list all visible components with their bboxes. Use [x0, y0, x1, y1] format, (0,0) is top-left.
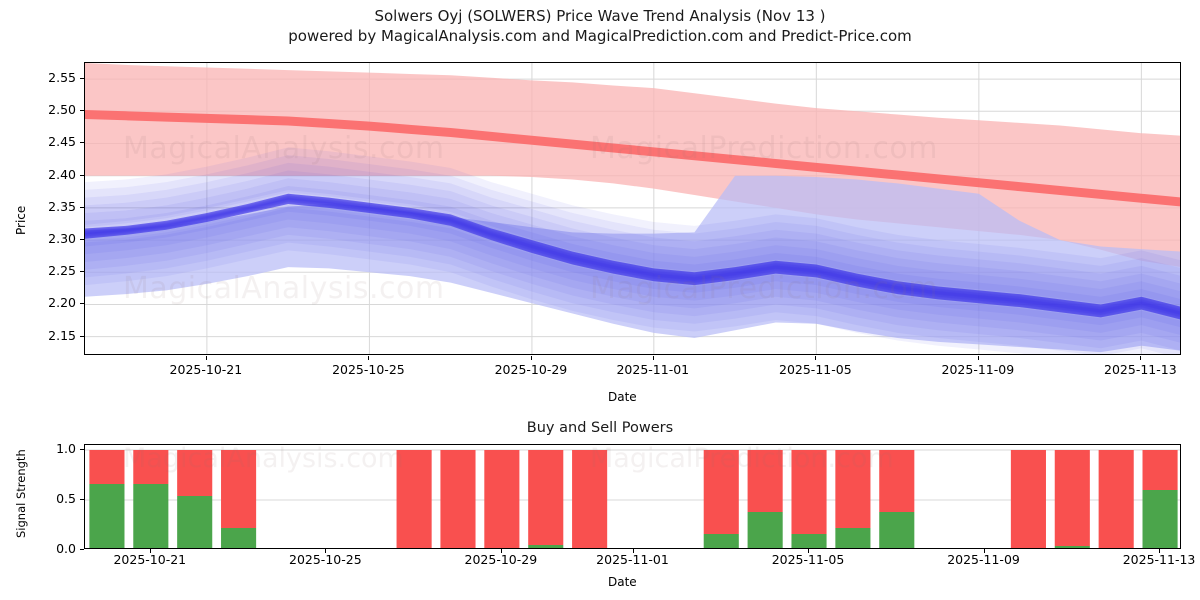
price-y-tick: 2.30 — [24, 231, 76, 246]
signal-x-tickmark — [808, 549, 809, 553]
sell-power-segment — [89, 450, 124, 484]
signal-x-tickmark — [1159, 549, 1160, 553]
price-x-tick: 2025-10-29 — [471, 362, 591, 377]
buy-sell-bars-svg — [85, 445, 1181, 549]
buy-power-segment — [1143, 490, 1178, 549]
price-x-tick: 2025-11-01 — [593, 362, 713, 377]
price-y-tick: 2.55 — [24, 70, 76, 85]
price-y-tick: 2.50 — [24, 102, 76, 117]
buy-power-segment — [177, 496, 212, 549]
buy-power-segment — [89, 484, 124, 549]
sell-power-segment — [1011, 450, 1046, 549]
buy-power-segment — [528, 545, 563, 549]
signal-bar — [835, 450, 870, 549]
sell-power-segment — [528, 450, 563, 545]
price-panel: Price Date 2.152.202.252.302.352.402.452… — [0, 0, 1200, 410]
signal-panel: Buy and Sell Powers Signal Strength Date… — [0, 410, 1200, 600]
signal-bar — [484, 450, 519, 549]
price-x-tickmark — [531, 356, 532, 360]
signal-y-tick: 0.0 — [30, 541, 76, 556]
price-y-tick: 2.40 — [24, 167, 76, 182]
price-x-tickmark — [368, 356, 369, 360]
signal-bar — [1011, 450, 1046, 549]
sell-power-segment — [791, 450, 826, 534]
signal-bar — [133, 450, 168, 549]
price-x-tickmark — [815, 356, 816, 360]
price-x-tickmark — [1140, 356, 1141, 360]
buy-power-segment — [879, 512, 914, 549]
signal-bar — [397, 450, 432, 549]
price-y-tick: 2.15 — [24, 328, 76, 343]
signal-y-tick: 1.0 — [30, 441, 76, 456]
signal-x-axis-label: Date — [608, 575, 637, 589]
signal-y-tick: 0.5 — [30, 491, 76, 506]
sell-power-segment — [397, 450, 432, 549]
price-x-tick: 2025-10-25 — [308, 362, 428, 377]
signal-x-tick: 2025-10-25 — [265, 552, 385, 567]
sell-power-segment — [221, 450, 256, 528]
signal-bar — [1055, 450, 1090, 549]
sell-power-segment — [1055, 450, 1090, 546]
signal-bar — [221, 450, 256, 549]
signal-x-tickmark — [150, 549, 151, 553]
buy-power-segment — [221, 528, 256, 549]
signal-x-tick: 2025-11-05 — [748, 552, 868, 567]
buy-power-segment — [1055, 546, 1090, 549]
signal-plot-area: MagicalAnalysis.com MagicalPrediction.co… — [84, 444, 1181, 549]
price-x-tick: 2025-11-09 — [918, 362, 1038, 377]
price-x-tick: 2025-10-21 — [146, 362, 266, 377]
price-wave-svg — [85, 63, 1181, 355]
sell-power-segment — [835, 450, 870, 528]
signal-x-tick: 2025-11-13 — [1099, 552, 1200, 567]
price-x-tick: 2025-11-05 — [755, 362, 875, 377]
price-x-tickmark — [978, 356, 979, 360]
price-y-tick: 2.25 — [24, 263, 76, 278]
buy-power-segment — [133, 484, 168, 549]
signal-x-tickmark — [633, 549, 634, 553]
sell-power-segment — [879, 450, 914, 512]
signal-panel-title: Buy and Sell Powers — [0, 420, 1200, 436]
signal-bar — [791, 450, 826, 549]
signal-bar — [89, 450, 124, 549]
signal-x-tick: 2025-11-01 — [573, 552, 693, 567]
sell-power-segment — [748, 450, 783, 512]
signal-x-tick: 2025-11-09 — [924, 552, 1044, 567]
sell-power-segment — [440, 450, 475, 549]
signal-x-tickmark — [984, 549, 985, 553]
signal-y-tickmark — [80, 549, 84, 550]
signal-x-tick: 2025-10-29 — [441, 552, 561, 567]
signal-x-tickmark — [501, 549, 502, 553]
sell-power-segment — [572, 450, 607, 549]
buy-power-segment — [704, 534, 739, 549]
sell-power-segment — [704, 450, 739, 534]
signal-bar — [1099, 450, 1134, 549]
signal-x-tick: 2025-10-21 — [90, 552, 210, 567]
signal-bar — [1143, 450, 1178, 549]
price-x-axis-label: Date — [608, 390, 637, 404]
signal-bar — [748, 450, 783, 549]
buy-power-segment — [748, 512, 783, 549]
signal-bar — [440, 450, 475, 549]
signal-bar — [879, 450, 914, 549]
sell-power-segment — [1143, 450, 1178, 490]
price-y-tick: 2.45 — [24, 134, 76, 149]
chart-page: Solwers Oyj (SOLWERS) Price Wave Trend A… — [0, 0, 1200, 600]
buy-power-segment — [835, 528, 870, 549]
buy-power-segment — [791, 534, 826, 549]
sell-power-segment — [484, 450, 519, 549]
price-x-tickmark — [206, 356, 207, 360]
signal-bar — [704, 450, 739, 549]
signal-x-tickmark — [325, 549, 326, 553]
sell-power-segment — [177, 450, 212, 496]
price-y-tick: 2.20 — [24, 295, 76, 310]
signal-y-axis-label: Signal Strength — [14, 449, 28, 538]
price-y-tick: 2.35 — [24, 199, 76, 214]
sell-power-segment — [133, 450, 168, 484]
price-plot-area: MagicalAnalysis.com MagicalPrediction.co… — [84, 62, 1181, 355]
signal-bar — [572, 450, 607, 549]
signal-bar — [528, 450, 563, 549]
signal-bar — [177, 450, 212, 549]
price-x-tick: 2025-11-13 — [1080, 362, 1200, 377]
sell-power-segment — [1099, 450, 1134, 549]
price-x-tickmark — [653, 356, 654, 360]
